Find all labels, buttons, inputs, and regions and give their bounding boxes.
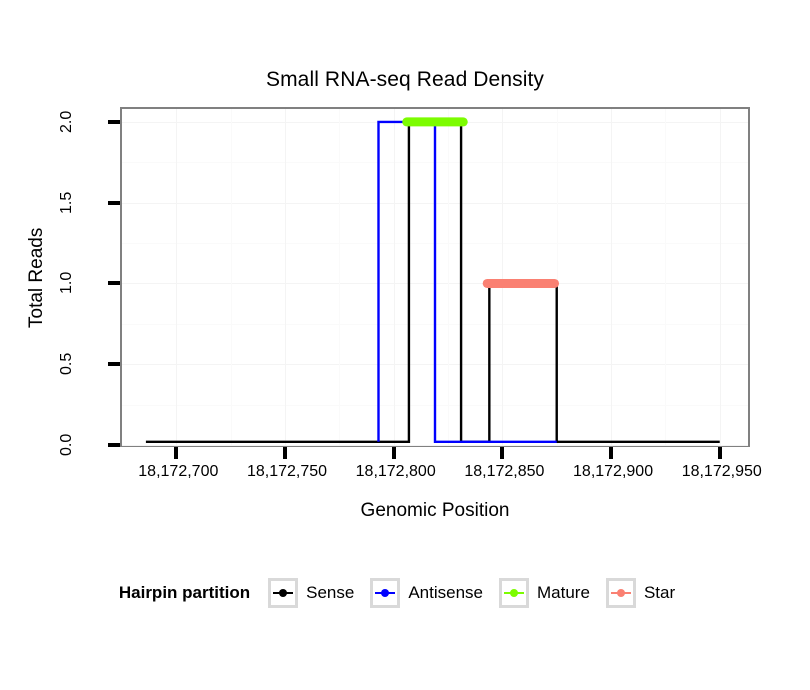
y-axis-tick: [108, 443, 120, 447]
y-axis: 0.00.51.01.52.0: [46, 107, 120, 447]
y-axis-tick-label: 1.5: [58, 180, 104, 226]
legend-key-icon: [370, 578, 400, 608]
chart-title: Small RNA-seq Read Density: [0, 68, 810, 92]
legend-entry-label: Sense: [306, 583, 354, 603]
gridline-horizontal: [122, 445, 748, 446]
legend-entry-label: Star: [644, 583, 675, 603]
series-line-sense: [146, 122, 720, 442]
y-axis-tick: [108, 120, 120, 124]
legend-key-dot: [381, 589, 389, 597]
legend-key-dot: [510, 589, 518, 597]
x-axis-tick-label: 18,172,700: [118, 463, 238, 481]
y-axis-tick: [108, 281, 120, 285]
y-axis-tick-label: 0.5: [58, 341, 104, 387]
data-layer: [122, 109, 748, 445]
x-axis-tick-label: 18,172,750: [227, 463, 347, 481]
x-axis-tick: [500, 447, 504, 459]
y-axis-tick: [108, 362, 120, 366]
chart-legend: Hairpin partition SenseAntisenseMatureSt…: [0, 578, 810, 608]
legend-key-icon: [499, 578, 529, 608]
x-axis-tick: [718, 447, 722, 459]
chart-figure: Small RNA-seq Read Density Total Reads 0…: [0, 0, 810, 690]
y-axis-tick-label: 2.0: [58, 99, 104, 145]
y-axis-tick: [108, 201, 120, 205]
x-axis-tick: [392, 447, 396, 459]
legend-entry-label: Antisense: [408, 583, 483, 603]
x-axis-tick: [283, 447, 287, 459]
plot-panel: [120, 107, 750, 447]
legend-entry-mature[interactable]: Mature: [499, 578, 590, 608]
x-axis-tick: [609, 447, 613, 459]
legend-key-dot: [279, 589, 287, 597]
legend-entry-antisense[interactable]: Antisense: [370, 578, 483, 608]
x-axis: 18,172,70018,172,75018,172,80018,172,850…: [120, 447, 750, 497]
legend-title: Hairpin partition: [119, 583, 250, 603]
legend-key-icon: [606, 578, 636, 608]
x-axis-tick-label: 18,172,850: [444, 463, 564, 481]
legend-key-dot: [617, 589, 625, 597]
legend-key-icon: [268, 578, 298, 608]
y-axis-tick-label: 1.0: [58, 260, 104, 306]
legend-entry-star[interactable]: Star: [606, 578, 675, 608]
x-axis-tick-label: 18,172,900: [553, 463, 673, 481]
legend-entry-label: Mature: [537, 583, 590, 603]
x-axis-tick: [174, 447, 178, 459]
legend-entry-sense[interactable]: Sense: [268, 578, 354, 608]
y-axis-tick-label: 0.0: [58, 422, 104, 468]
x-axis-tick-label: 18,172,800: [336, 463, 456, 481]
x-axis-title: Genomic Position: [120, 500, 750, 522]
x-axis-tick-label: 18,172,950: [662, 463, 782, 481]
plot-svg: [122, 109, 748, 445]
